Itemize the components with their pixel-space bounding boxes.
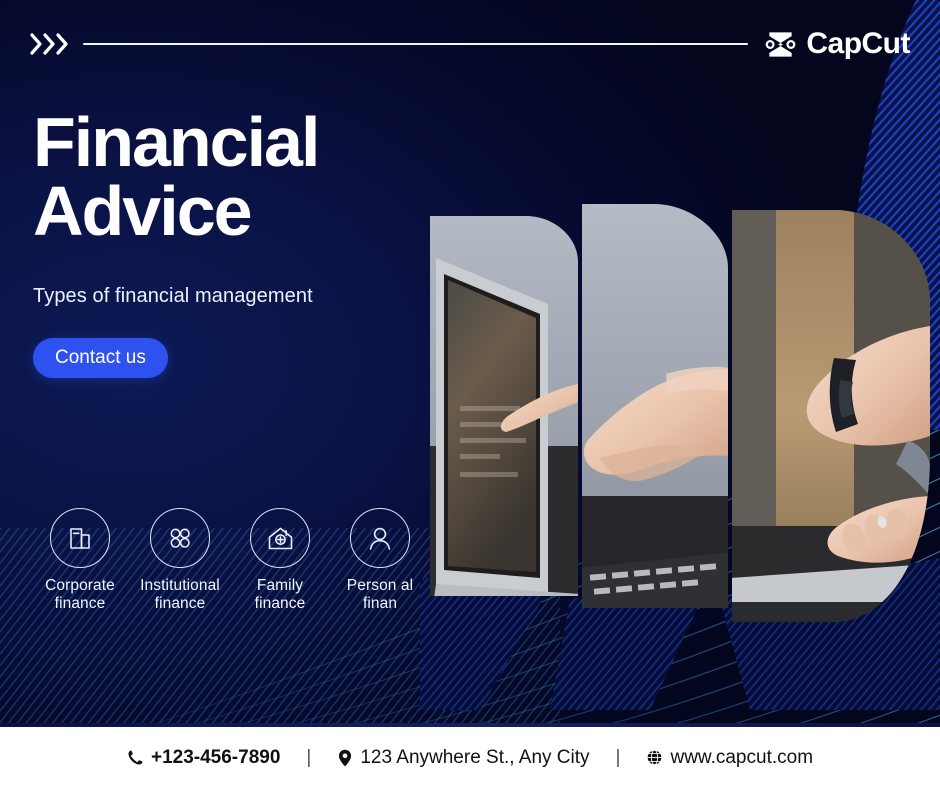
feature-item-personal-finance[interactable]: Person al finan [330,508,430,614]
contact-us-button[interactable]: Contact us [33,338,168,378]
feature-item-institutional-finance[interactable]: Institutional finance [130,508,230,614]
footer-phone[interactable]: +123-456-7890 [127,747,280,769]
feature-icon-row: Corporate finance Institutional finance [30,508,430,614]
feature-label: Person al finan [332,577,428,614]
hero-subtitle: Types of financial management [33,285,433,308]
phone-icon [127,749,144,766]
person-user-icon [350,508,410,568]
header-divider-rule [83,43,748,45]
family-house-plus-icon [250,508,310,568]
brand-logo: CapCut [764,27,910,61]
footer-website-text: www.capcut.com [670,747,813,769]
title-line-1: Financial [33,103,318,181]
corporate-building-icon [50,508,110,568]
brand-name: CapCut [806,27,910,61]
footer-address-text: 123 Anywhere St., Any City [360,747,589,769]
poster-header: CapCut [0,0,940,88]
feature-item-corporate-finance[interactable]: Corporate finance [30,508,130,614]
page-title: Financial Advice [33,108,433,245]
title-line-2: Advice [33,177,433,246]
hero-block: Financial Advice Types of financial mana… [33,108,433,378]
collage-panel-laptop [430,196,580,628]
footer-address[interactable]: 123 Anywhere St., Any City [337,747,589,769]
globe-icon [646,749,663,766]
map-pin-icon [337,749,353,767]
feature-label: Institutional finance [132,577,228,614]
chevrons-right-icon [30,33,69,55]
poster-canvas: CapCut Financial Advice Types of financi… [0,0,940,788]
collage-panel-hands [580,196,730,628]
feature-label: Family finance [232,577,328,614]
footer-website[interactable]: www.capcut.com [646,747,813,769]
feature-label: Corporate finance [32,577,128,614]
footer-separator-1: | [306,747,311,769]
poster-footer: +123-456-7890 | 123 Anywhere St., Any Ci… [0,727,940,788]
collage-panel-watch [730,196,930,628]
footer-separator-2: | [616,747,621,769]
photo-collage [430,196,930,628]
footer-phone-text: +123-456-7890 [151,747,280,769]
capcut-logo-icon [764,28,797,61]
feature-item-family-finance[interactable]: Family finance [230,508,330,614]
institutional-dots-icon [150,508,210,568]
